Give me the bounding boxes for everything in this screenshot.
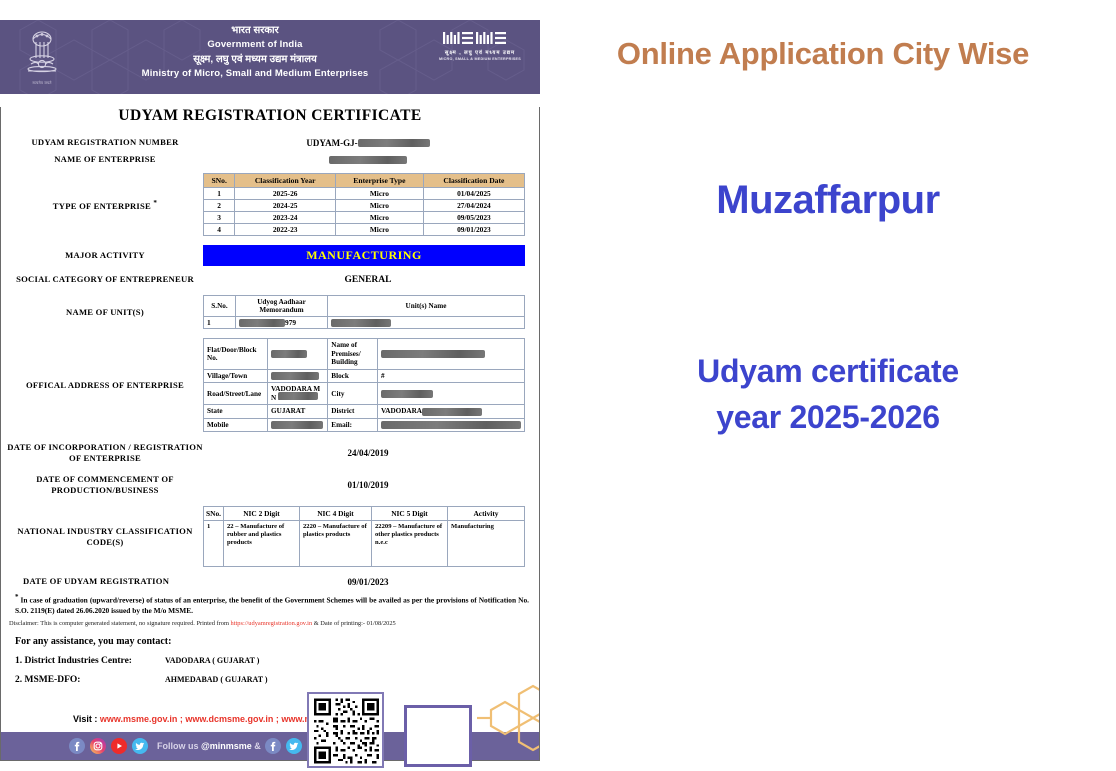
follow-us-text: Follow us: [157, 741, 201, 751]
dfo-label: 2. MSME-DFO:: [15, 675, 165, 685]
value-state: GUJARAT: [268, 405, 328, 419]
cell-sno: 1: [204, 317, 236, 329]
social-category-label: SOCIAL CATEGORY OF ENTREPRENEUR: [7, 274, 203, 285]
registration-number-label: UDYAM REGISTRATION NUMBER: [7, 137, 203, 148]
table-row: 1 979: [204, 317, 525, 329]
cell-date: 09/01/2023: [423, 224, 524, 236]
key-village-town: Village/Town: [204, 369, 268, 383]
redacted-city: [381, 390, 433, 398]
official-address-row: OFFICAL ADDRESS OF ENTERPRISE Flat/Door/…: [7, 338, 533, 432]
cell-sno: 3: [204, 212, 235, 224]
value-village-town: [268, 369, 328, 383]
msme-wordmark-icon: [442, 30, 518, 46]
value-city: [378, 383, 525, 405]
cell-udyog-aadhaar: 979: [236, 317, 328, 329]
date-commencement-label: DATE OF COMMENCEMENT OF PRODUCTION/BUSIN…: [7, 474, 203, 496]
page-headline: Online Application City Wise: [540, 36, 1106, 72]
table-header-row: SNo. NIC 2 Digit NIC 4 Digit NIC 5 Digit…: [204, 507, 525, 521]
table-header-row: SNo. Classification Year Enterprise Type…: [204, 174, 525, 188]
instagram-icon[interactable]: [90, 738, 106, 754]
cell-activity: Manufacturing: [448, 521, 525, 567]
visit-prefix: Visit :: [73, 714, 100, 724]
purple-frame-box: [404, 705, 472, 767]
redacted-unit-name: [331, 319, 391, 327]
disclaimer-before-url: Disclaimer: This is computer generated s…: [9, 620, 231, 627]
key-road-street: Road/Street/Lane: [204, 383, 268, 405]
col-nic-4digit: NIC 4 Digit: [300, 507, 372, 521]
msme-logo-english: MICRO, SMALL & MEDIUM ENTERPRISES: [428, 57, 532, 61]
date-commencement-value: 01/10/2019: [203, 480, 533, 490]
classification-table: SNo. Classification Year Enterprise Type…: [203, 173, 525, 236]
cell-year: 2022-23: [235, 224, 336, 236]
disclaimer-after-url: & Date of printing:- 01/08/2025: [312, 620, 396, 627]
table-row: Mobile Email:: [204, 418, 525, 432]
gov-india-english: Government of India: [90, 38, 420, 52]
subline-line-2: year 2025-2026: [540, 394, 1116, 440]
qr-code-overlay[interactable]: [307, 692, 384, 768]
col-classification-year: Classification Year: [235, 174, 336, 188]
date-incorporation-row: DATE OF INCORPORATION / REGISTRATION OF …: [7, 442, 533, 464]
cell-type: Micro: [336, 200, 424, 212]
col-udyog-aadhaar: Udyog Aadhaar Memorandum: [236, 296, 328, 317]
facebook-icon-secondary[interactable]: [265, 738, 281, 754]
handle-minmsme[interactable]: @minmsme: [201, 741, 252, 751]
key-state: State: [204, 405, 268, 419]
table-row: 3 2023-24 Micro 09/05/2023: [204, 212, 525, 224]
col-classification-date: Classification Date: [423, 174, 524, 188]
twitter-icon-secondary[interactable]: [286, 738, 302, 754]
major-activity-row: MAJOR ACTIVITY MANUFACTURING: [7, 245, 533, 266]
type-of-enterprise-label: TYPE OF ENTERPRISE *: [7, 198, 203, 212]
cell-date: 01/04/2025: [423, 188, 524, 200]
registration-number-value: UDYAM-GJ-: [203, 138, 533, 148]
cell-type: Micro: [336, 212, 424, 224]
cell-unit-name: [328, 317, 525, 329]
graduation-note: * In case of graduation (upward/reverse)…: [15, 592, 529, 615]
name-of-units-row: NAME OF UNIT(S) S.No. Udyog Aadhaar Memo…: [7, 295, 533, 329]
enterprise-name-label: NAME OF ENTERPRISE: [7, 154, 203, 165]
cell-sno: 2: [204, 200, 235, 212]
youtube-icon[interactable]: [111, 738, 127, 754]
contact-row-dfo: 2. MSME-DFO: AHMEDABAD ( GUJARAT ): [15, 675, 533, 685]
value-road-street: VADODARA M N D: [268, 383, 328, 405]
major-activity-label: MAJOR ACTIVITY: [7, 250, 203, 261]
graduation-note-text: In case of graduation (upward/reverse) o…: [15, 596, 529, 615]
social-category-value: GENERAL: [203, 275, 533, 285]
disclaimer: Disclaimer: This is computer generated s…: [9, 619, 531, 628]
table-row: 4 2022-23 Micro 09/01/2023: [204, 224, 525, 236]
value-district: VADODARA: [378, 405, 525, 419]
key-premises-name: Name of Premises/ Building: [328, 339, 378, 370]
cell-year: 2025-26: [235, 188, 336, 200]
major-activity-value: MANUFACTURING: [203, 245, 525, 266]
table-row: Flat/Door/Block No. Name of Premises/ Bu…: [204, 339, 525, 370]
table-header-row: S.No. Udyog Aadhaar Memorandum Unit(s) N…: [204, 296, 525, 317]
msme-logo: सूक्ष्म , लघु एवं मध्यम उद्यम MICRO, SMA…: [428, 30, 532, 61]
contact-row-dic: 1. District Industries Centre: VADODARA …: [15, 656, 533, 666]
certificate-year-text: Udyam certificate year 2025-2026: [540, 348, 1116, 440]
redacted-registration-number: [358, 139, 430, 147]
certificate-body: UDYAM REGISTRATION CERTIFICATE UDYAM REG…: [0, 107, 540, 761]
key-city: City: [328, 383, 378, 405]
redacted-email: [381, 421, 521, 429]
date-incorporation-label: DATE OF INCORPORATION / REGISTRATION OF …: [7, 442, 203, 464]
col-activity: Activity: [448, 507, 525, 521]
value-email: [378, 418, 525, 432]
cell-date: 27/04/2024: [423, 200, 524, 212]
ministry-titles: भारत सरकार Government of India सूक्ष्म, …: [90, 24, 420, 81]
table-row: 1 22 – Manufacture of rubber and plastic…: [204, 521, 525, 567]
table-row: Road/Street/Lane VADODARA M N D City: [204, 383, 525, 405]
enterprise-name-value: [203, 155, 533, 165]
nic-label: NATIONAL INDUSTRY CLASSIFICATION CODE(S): [7, 526, 203, 548]
col-sno: SNo.: [204, 174, 235, 188]
redacted-mobile: [271, 421, 323, 429]
col-unit-name: Unit(s) Name: [328, 296, 525, 317]
table-row: State GUJARAT District VADODARA: [204, 405, 525, 419]
key-email: Email:: [328, 418, 378, 432]
registration-number-text: UDYAM-GJ-: [306, 138, 357, 148]
right-text-panel: Online Application City Wise Muzaffarpur…: [540, 0, 1116, 753]
redacted-udyog-aadhaar: [239, 319, 285, 327]
cell-sno: 1: [204, 521, 224, 567]
value-flat-door-block: [268, 339, 328, 370]
cell-nic-2digit: 22 – Manufacture of rubber and plastics …: [224, 521, 300, 567]
table-row: 1 2025-26 Micro 01/04/2025: [204, 188, 525, 200]
ministry-header: सत्यमेव जयते भारत सरकार Government of In…: [0, 20, 540, 94]
qr-code-icon: [311, 696, 382, 766]
key-mobile: Mobile: [204, 418, 268, 432]
table-row: 2 2024-25 Micro 27/04/2024: [204, 200, 525, 212]
cell-year: 2023-24: [235, 212, 336, 224]
assistance-title: For any assistance, you may contact:: [15, 636, 533, 647]
redacted-village: [271, 372, 319, 380]
city-name: Muzaffarpur: [540, 178, 1116, 223]
nic-table: SNo. NIC 2 Digit NIC 4 Digit NIC 5 Digit…: [203, 506, 525, 567]
udyam-portal-link[interactable]: https://udyamregistration.gov.in: [231, 620, 313, 627]
value-premises-name: [378, 339, 525, 370]
dfo-value: AHMEDABAD ( GUJARAT ): [165, 675, 268, 684]
redacted-road-street: [278, 392, 318, 400]
msme-logo-hindi: सूक्ष्म , लघु एवं मध्यम उद्यम: [428, 48, 532, 56]
redacted-enterprise-name: [329, 156, 407, 164]
name-of-units-label: NAME OF UNIT(S): [7, 307, 203, 318]
date-udyam-registration-label: DATE OF UDYAM REGISTRATION: [7, 576, 203, 587]
date-commencement-row: DATE OF COMMENCEMENT OF PRODUCTION/BUSIN…: [7, 474, 533, 496]
col-nic-2digit: NIC 2 Digit: [224, 507, 300, 521]
cell-year: 2024-25: [235, 200, 336, 212]
dic-value: VADODARA ( GUJARAT ): [165, 656, 259, 665]
ampersand: &: [252, 741, 261, 751]
key-flat-door-block: Flat/Door/Block No.: [204, 339, 268, 370]
enterprise-name-row: NAME OF ENTERPRISE: [7, 154, 533, 165]
redacted-district: [422, 408, 482, 416]
cell-type: Micro: [336, 224, 424, 236]
cell-nic-4digit: 2220 – Manufacture of plastics products: [300, 521, 372, 567]
value-mobile: [268, 418, 328, 432]
cell-nic-5digit: 22209 – Manufacture of other plastics pr…: [372, 521, 448, 567]
ministry-hindi: सूक्ष्म, लघु एवं मध्यम उद्यम मंत्रालय: [90, 52, 420, 67]
ministry-english: Ministry of Micro, Small and Medium Ente…: [90, 67, 420, 81]
type-of-enterprise-row: TYPE OF ENTERPRISE * SNo. Classification…: [7, 173, 533, 236]
value-block: #: [378, 369, 525, 383]
twitter-icon[interactable]: [132, 738, 148, 754]
visit-sites[interactable]: www.msme.gov.in ; www.dcmsme.gov.in ; ww…: [100, 714, 305, 724]
cell-sno: 4: [204, 224, 235, 236]
redacted-premises-name: [381, 350, 485, 358]
social-follow-text: Follow us @minmsme &: [157, 741, 261, 751]
facebook-icon[interactable]: [69, 738, 85, 754]
key-block: Block: [328, 369, 378, 383]
registration-number-row: UDYAM REGISTRATION NUMBER UDYAM-GJ-: [7, 137, 533, 148]
col-nic-5digit: NIC 5 Digit: [372, 507, 448, 521]
subline-line-1: Udyam certificate: [540, 348, 1116, 394]
asterisk-marker: *: [15, 593, 19, 601]
asterisk-marker: *: [153, 199, 157, 207]
certificate-title: UDYAM REGISTRATION CERTIFICATE: [7, 107, 533, 125]
cell-sno: 1: [204, 188, 235, 200]
ashoka-emblem-icon: [22, 28, 62, 80]
units-table: S.No. Udyog Aadhaar Memorandum Unit(s) N…: [203, 295, 525, 329]
nic-codes-row: NATIONAL INDUSTRY CLASSIFICATION CODE(S)…: [7, 506, 533, 567]
col-sno: SNo.: [204, 507, 224, 521]
key-district: District: [328, 405, 378, 419]
dic-label: 1. District Industries Centre:: [15, 656, 165, 666]
social-category-row: SOCIAL CATEGORY OF ENTREPRENEUR GENERAL: [7, 274, 533, 285]
cell-type: Micro: [336, 188, 424, 200]
address-table: Flat/Door/Block No. Name of Premises/ Bu…: [203, 338, 525, 432]
col-sno: S.No.: [204, 296, 236, 317]
emblem-caption: सत्यमेव जयते: [32, 81, 51, 86]
table-row: Village/Town Block #: [204, 369, 525, 383]
date-incorporation-value: 24/04/2019: [203, 448, 533, 458]
gov-india-hindi: भारत सरकार: [90, 24, 420, 38]
date-udyam-registration-row: DATE OF UDYAM REGISTRATION 09/01/2023: [7, 576, 533, 587]
date-udyam-registration-value: 09/01/2023: [203, 577, 533, 587]
redacted-flat-no: [271, 350, 307, 358]
udyam-certificate: सत्यमेव जयते भारत सरकार Government of In…: [0, 20, 540, 748]
official-address-label: OFFICAL ADDRESS OF ENTERPRISE: [7, 380, 203, 391]
cell-date: 09/05/2023: [423, 212, 524, 224]
col-enterprise-type: Enterprise Type: [336, 174, 424, 188]
national-emblem: सत्यमेव जयते: [14, 23, 70, 91]
